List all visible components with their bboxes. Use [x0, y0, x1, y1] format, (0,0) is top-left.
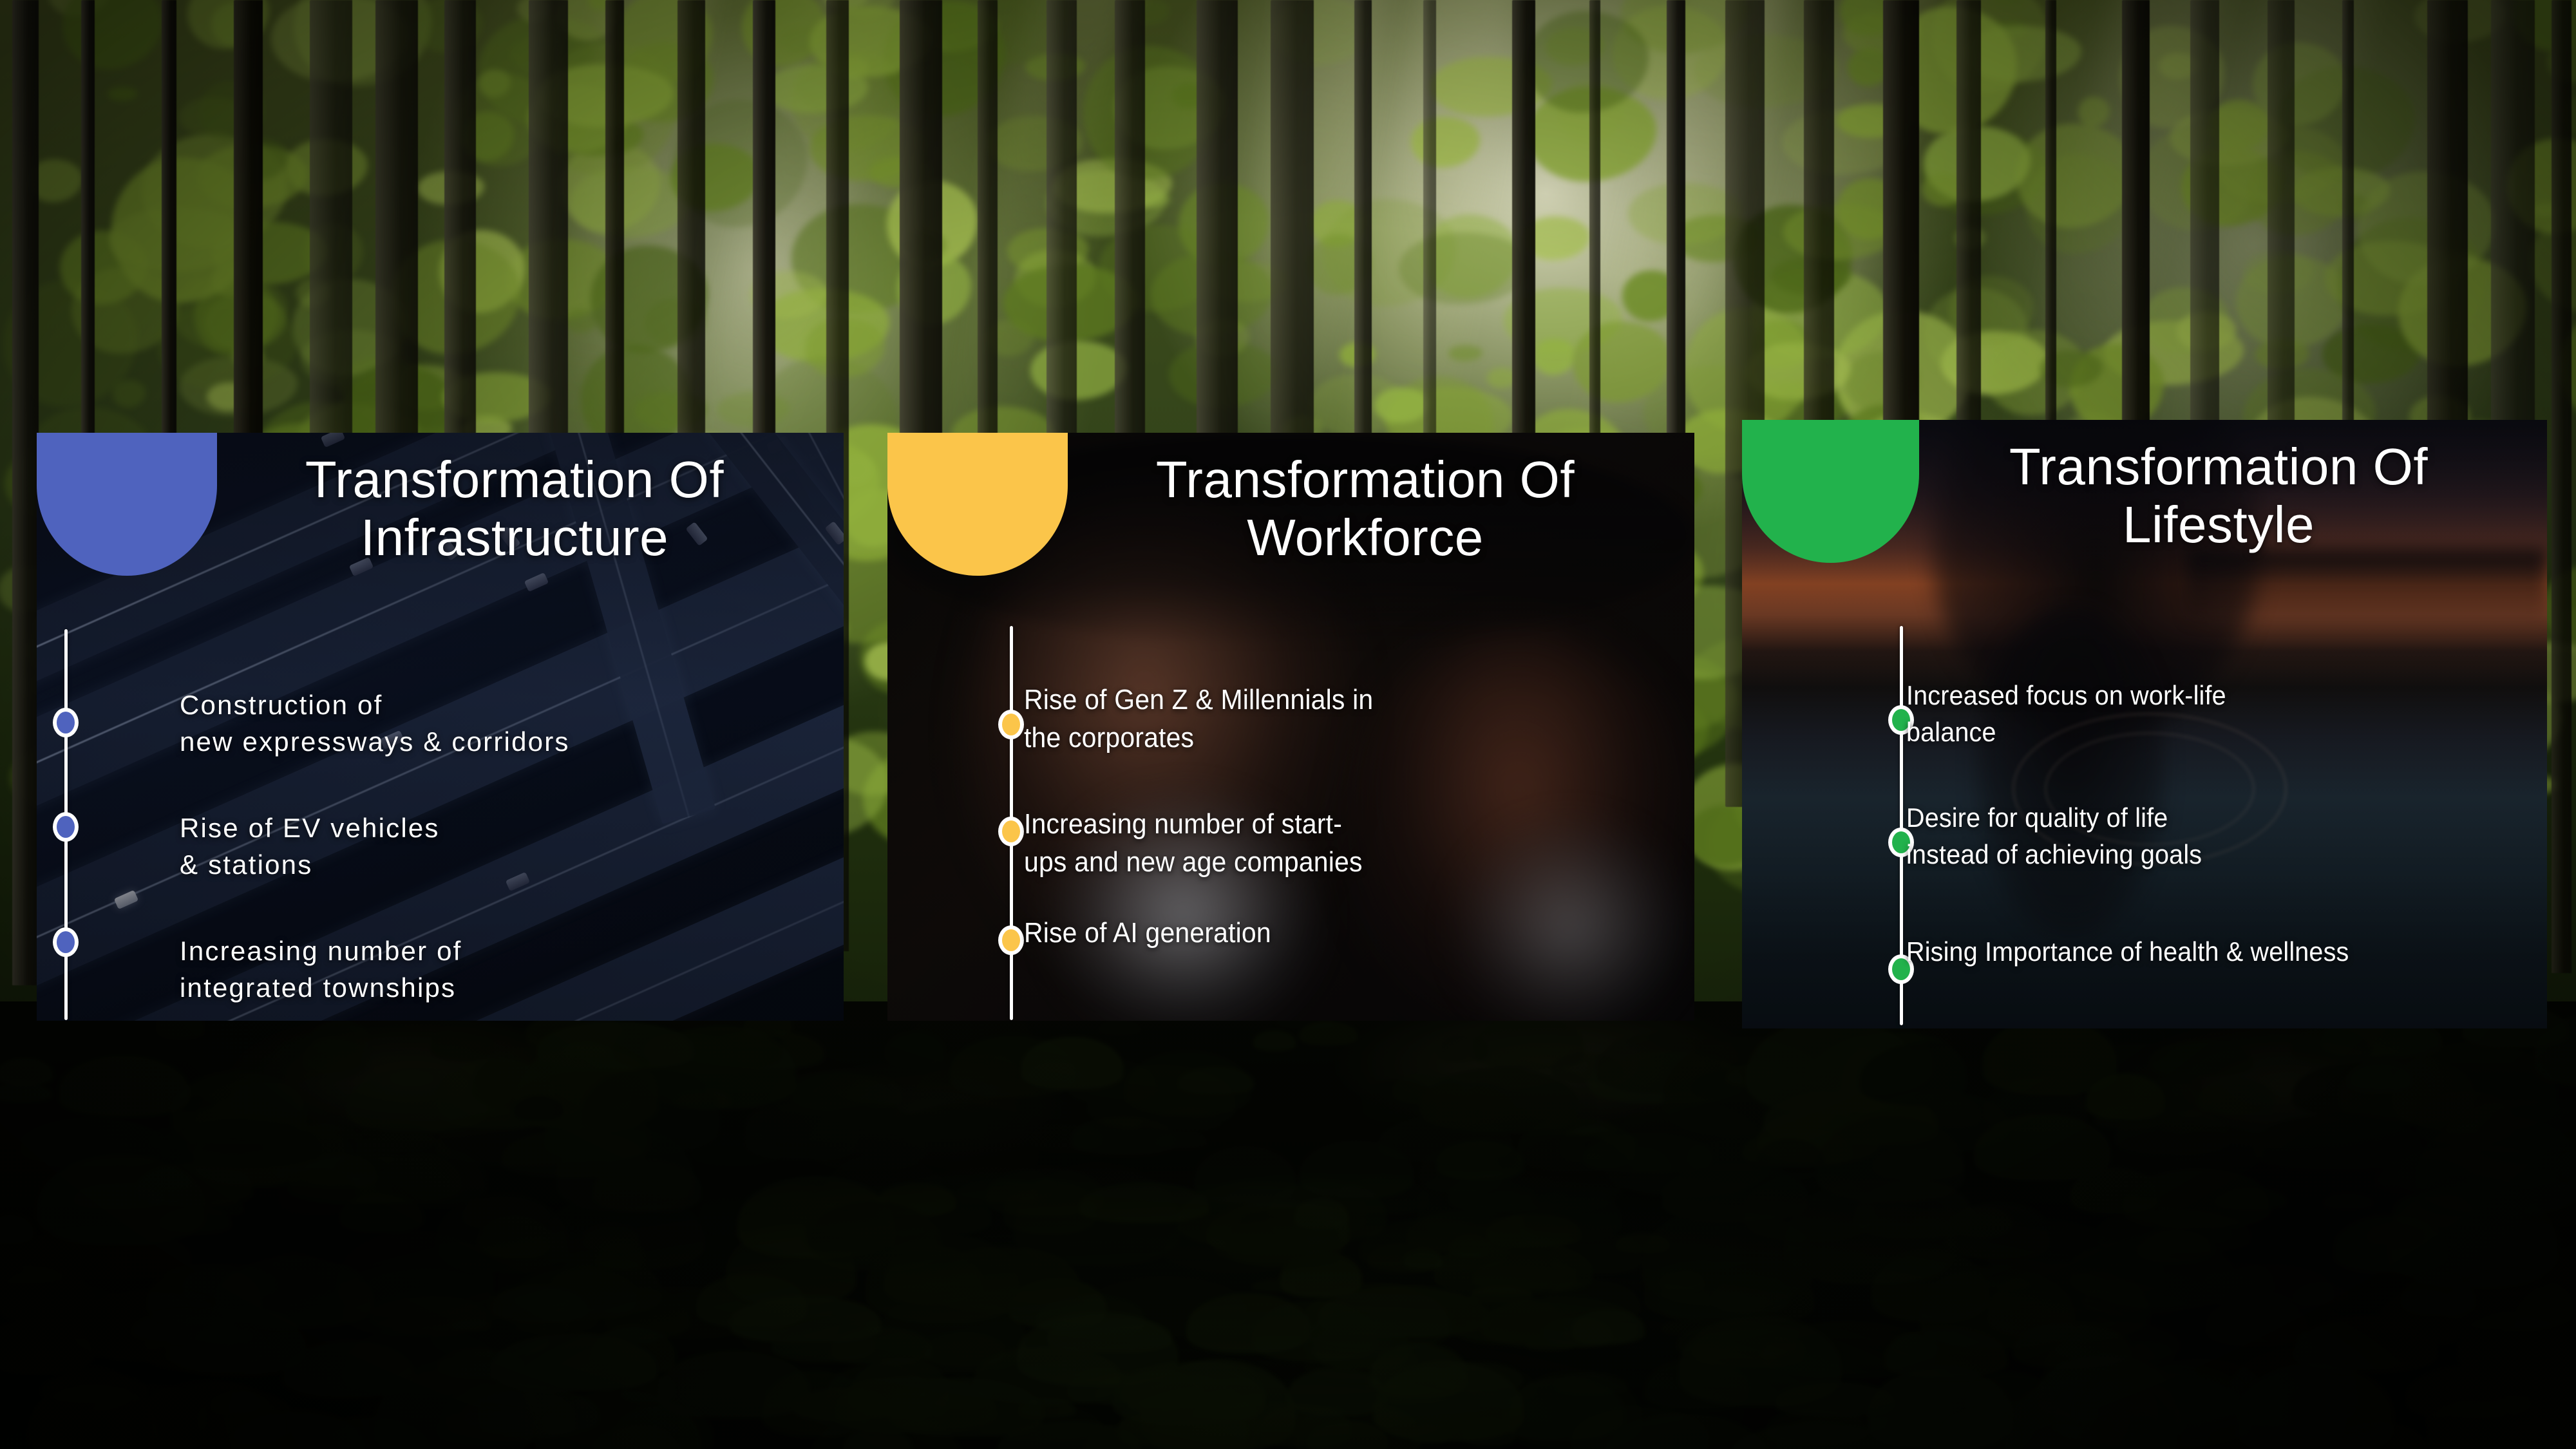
undergrowth-shadow: [0, 1001, 2576, 1449]
bullet-item: Rise of EV vehicles & stations: [180, 810, 824, 883]
card-workforce[interactable]: Transformation Of Workforce Rise of Gen …: [887, 433, 1694, 1021]
bullet-item: Rise of Gen Z & Millennials in the corpo…: [1024, 681, 1629, 757]
timeline-dot: [53, 812, 79, 842]
timeline-dot: [53, 927, 79, 957]
bullet-item: Increased focus on work-life balance: [1906, 677, 2506, 750]
card-lifestyle[interactable]: Transformation Of Lifestyle Increased fo…: [1742, 420, 2547, 1028]
slide-canvas: Transformation Of Infrastructure Constru…: [0, 0, 2576, 1449]
card-title-infrastructure: Transformation Of Infrastructure: [205, 451, 824, 566]
bullet-item: Increasing number of integrated township…: [180, 933, 824, 1006]
bullet-item: Construction of new expressways & corrid…: [180, 687, 824, 760]
bullet-item: Rising Importance of health & wellness: [1906, 934, 2506, 971]
card-infrastructure[interactable]: Transformation Of Infrastructure Constru…: [37, 433, 844, 1021]
timeline-dot: [998, 817, 1024, 846]
timeline-dot: [53, 708, 79, 737]
bullet-item: Increasing number of start- ups and new …: [1024, 805, 1629, 882]
timeline-dot: [998, 925, 1024, 955]
timeline-dot: [998, 710, 1024, 739]
bullet-item: Desire for quality of life instead of ac…: [1906, 800, 2506, 873]
card-title-lifestyle: Transformation Of Lifestyle: [1903, 438, 2534, 553]
card-title-workforce: Transformation Of Workforce: [1056, 451, 1674, 566]
bullet-item: Rise of AI generation: [1024, 914, 1629, 952]
